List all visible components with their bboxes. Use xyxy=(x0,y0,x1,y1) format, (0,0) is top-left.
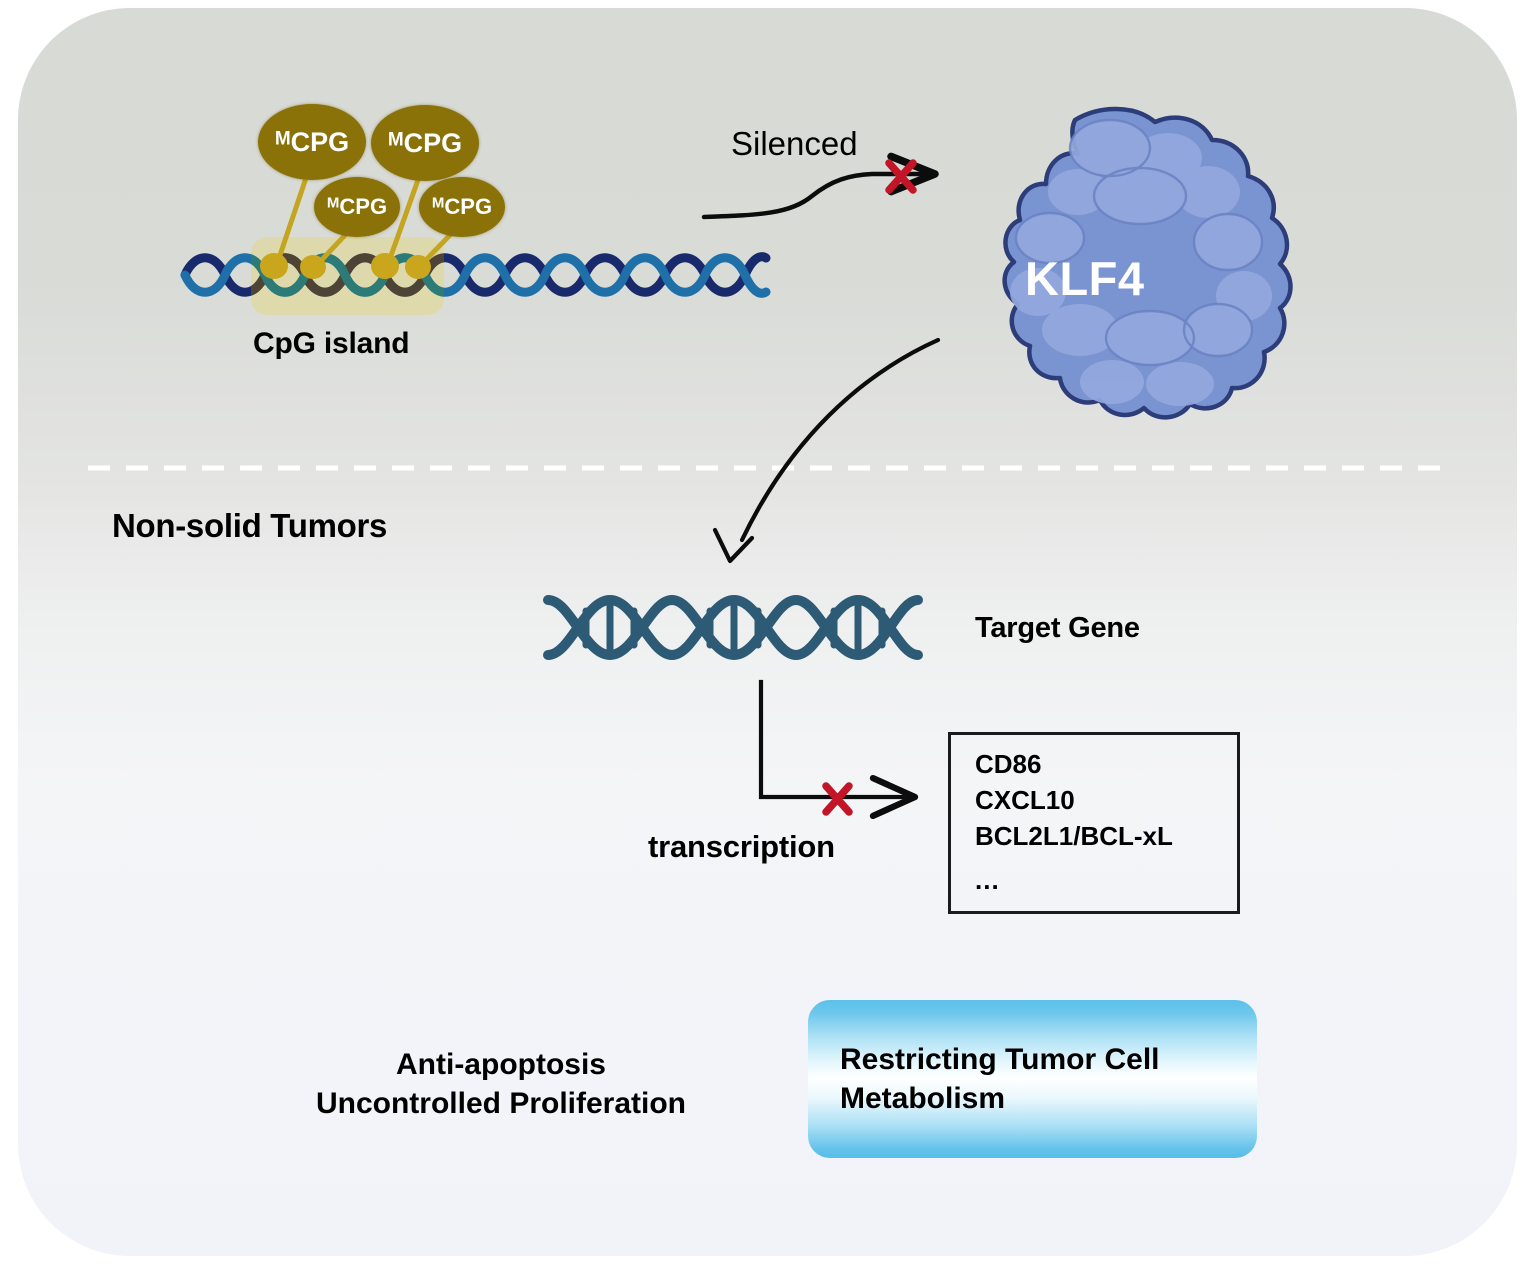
outcome-label: Restricting Tumor Cell Metabolism xyxy=(840,1040,1159,1118)
silenced-x-icon xyxy=(889,163,913,190)
methyl-superscript: M xyxy=(388,129,404,150)
methyl-anchor-2 xyxy=(300,255,326,279)
target-gene-helix xyxy=(548,600,918,655)
silenced-label: Silenced xyxy=(731,124,858,165)
target-gene-label: Target Gene xyxy=(975,611,1140,647)
methyl-anchor-3 xyxy=(371,253,399,279)
outcome-label: Anti-apoptosis Uncontrolled Proliferatio… xyxy=(316,1045,686,1123)
methyl-superscript: M xyxy=(432,195,445,212)
methyl-cpg-label: CPG xyxy=(404,128,463,158)
methyl-cpg-label: CPG xyxy=(291,127,350,157)
transcription-label: transcription xyxy=(648,828,835,866)
target-gene-list: CD86 CXCL10 BCL2L1/BCL-xL ... xyxy=(975,746,1173,899)
gene-list-item: BCL2L1/BCL-xL xyxy=(975,818,1173,854)
figure-canvas: MCPG MCPG MCPG MCPG CpG island Silenced … xyxy=(0,0,1535,1264)
cpg-island-label: CpG island xyxy=(253,325,409,362)
section-title-non-solid-tumors: Non-solid Tumors xyxy=(112,506,387,547)
methyl-cpg-marker: MCPG xyxy=(314,177,400,237)
methyl-cpg-marker: MCPG xyxy=(371,105,479,181)
gene-list-item: CD86 xyxy=(975,746,1173,782)
methyl-superscript: M xyxy=(275,128,291,149)
methyl-cpg-label: CPG xyxy=(444,194,492,219)
methyl-superscript: M xyxy=(327,195,340,212)
diagram-vector-layer xyxy=(0,0,1535,1264)
klf4-to-target-arrow xyxy=(742,340,938,540)
methyl-anchor-4 xyxy=(405,255,431,279)
outcome-box-anti-apoptosis: Anti-apoptosis Uncontrolled Proliferatio… xyxy=(265,1005,737,1162)
methyl-cpg-marker: MCPG xyxy=(419,177,505,237)
transcription-arrow xyxy=(761,682,915,797)
klf4-protein-label: KLF4 xyxy=(1025,250,1145,308)
methyl-cpg-label: CPG xyxy=(339,194,387,219)
outcome-box-restricting-metabolism: Restricting Tumor Cell Metabolism xyxy=(808,1000,1257,1158)
gene-list-item: CXCL10 xyxy=(975,782,1173,818)
methyl-cpg-marker: MCPG xyxy=(258,104,366,180)
gene-list-item-more: ... xyxy=(975,862,1173,898)
methyl-anchor-1 xyxy=(260,253,288,279)
